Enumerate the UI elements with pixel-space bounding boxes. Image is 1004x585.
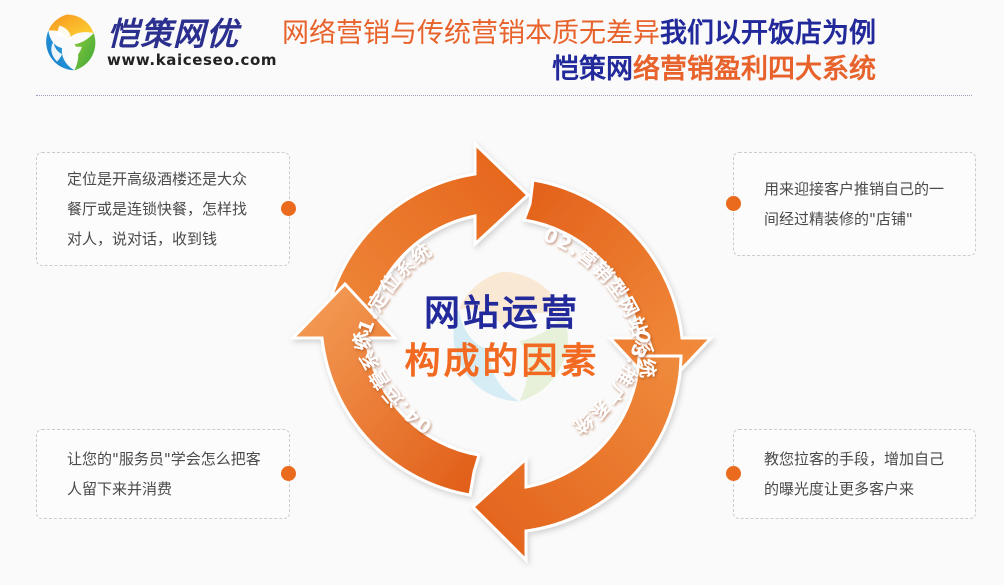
- callout-tr-line-2: 间经过精装修的"店铺": [764, 204, 913, 234]
- callout-tr-line-1: 用来迎接客户推销自己的一: [764, 174, 944, 204]
- callout-box-top-left: 定位是开高级酒楼还是大众 餐厅或是连锁快餐，怎样找 对人，说对话，收到钱: [36, 152, 290, 266]
- callout-tl-line-3: 对人，说对话，收到钱: [67, 224, 217, 254]
- callout-box-bottom-left-content: 让您的"服务员"学会怎么把客 人留下来并消费: [37, 430, 289, 518]
- cycle-diagram-svg: 01.定位系统 02.营销型网站系统 03.推广系统 04.运营系统: [262, 98, 742, 578]
- headline-line-2-orange: 络营销盈利四大系统: [633, 54, 876, 85]
- headline: 网络营销与传统营销本质无差异我们以开饭店为例 恺策网络营销盈利四大系统: [282, 16, 876, 88]
- headline-line-2: 恺策网络营销盈利四大系统: [282, 52, 876, 88]
- callout-tl-line-1: 定位是开高级酒楼还是大众: [67, 164, 247, 194]
- callout-br-line-2: 的曝光度让更多客户来: [764, 474, 914, 504]
- callout-box-top-right: 用来迎接客户推销自己的一 间经过精装修的"店铺": [733, 152, 976, 256]
- callout-bl-line-1: 让您的"服务员"学会怎么把客: [67, 444, 261, 474]
- callout-box-bottom-right: 教您拉客的手段，增加自己 的曝光度让更多客户来: [733, 429, 976, 519]
- cycle-arrow-03[interactable]: [473, 356, 681, 560]
- page-header: 恺策网优 www.kaiceseo.com 网络营销与传统营销本质无差异我们以开…: [0, 0, 1004, 92]
- callout-br-line-1: 教您拉客的手段，增加自己: [764, 444, 944, 474]
- headline-line-1: 网络营销与传统营销本质无差异我们以开饭店为例: [282, 16, 876, 52]
- brand-wordmark: 恺策网优 www.kaiceseo.com: [107, 17, 277, 69]
- callout-bl-line-2: 人留下来并消费: [67, 474, 172, 504]
- callout-box-bottom-right-content: 教您拉客的手段，增加自己 的曝光度让更多客户来: [734, 430, 975, 518]
- headline-line-1-blue: 我们以开饭店为例: [660, 18, 876, 49]
- kaice-tri-swirl-logo-icon: [36, 12, 98, 74]
- page-canvas: 恺策网优 www.kaiceseo.com 网络营销与传统营销本质无差异我们以开…: [0, 0, 1004, 585]
- headline-line-2-blue: 恺策网: [552, 54, 633, 85]
- header-divider: [36, 95, 972, 96]
- callout-box-bottom-left: 让您的"服务员"学会怎么把客 人留下来并消费: [36, 429, 290, 519]
- kaice-logo-watermark-icon: [454, 272, 568, 402]
- headline-line-1-orange: 网络营销与传统营销本质无差异: [282, 18, 660, 49]
- brand-name-cn: 恺策网优: [107, 17, 277, 51]
- brand-url: www.kaiceseo.com: [107, 52, 277, 69]
- brand-logo[interactable]: 恺策网优 www.kaiceseo.com: [36, 12, 277, 74]
- cycle-diagram: 01.定位系统 02.营销型网站系统 03.推广系统 04.运营系统: [262, 98, 742, 578]
- callout-box-top-right-content: 用来迎接客户推销自己的一 间经过精装修的"店铺": [734, 153, 975, 255]
- callout-box-top-left-content: 定位是开高级酒楼还是大众 餐厅或是连锁快餐，怎样找 对人，说对话，收到钱: [37, 153, 289, 265]
- callout-tl-line-2: 餐厅或是连锁快餐，怎样找: [67, 194, 247, 224]
